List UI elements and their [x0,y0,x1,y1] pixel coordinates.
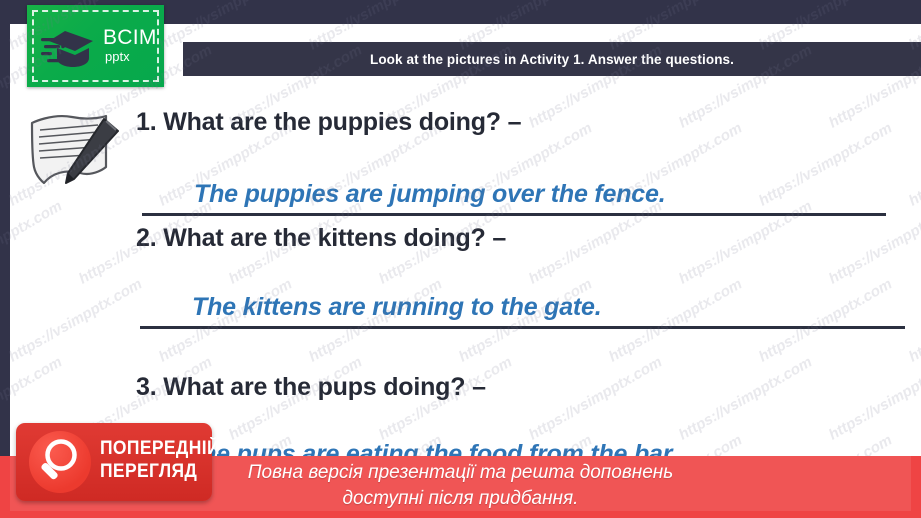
question-1: 1. What are the puppies doing? – [136,108,521,137]
preview-badge-line-1: ПОПЕРЕДНІЙ [100,437,220,460]
notepad-pen-icon [22,101,128,209]
answer-rule-1 [142,213,886,216]
preview-badge[interactable]: ПОПЕРЕДНІЙ ПЕРЕГЛЯД [16,423,212,501]
preview-badge-line-2: ПЕРЕГЛЯД [100,460,220,483]
instruction-text: Look at the pictures in Activity 1. Answ… [370,52,734,67]
question-3: 3. What are the pups doing? – [136,373,486,402]
logo-subtitle: pptx [105,50,130,63]
answer-1: The puppies are jumping over the fence. [194,180,665,209]
logo-title: BCIM [103,27,157,48]
preview-badge-label: ПОПЕРЕДНІЙ ПЕРЕГЛЯД [100,437,220,483]
question-2: 2. What are the kittens doing? – [136,224,506,253]
graduation-cap-icon [41,27,99,71]
instruction-banner: Look at the pictures in Activity 1. Answ… [183,42,921,76]
slide-left-rail [0,0,10,518]
site-logo[interactable]: BCIM pptx [27,5,164,87]
magnifier-icon [29,431,91,493]
slide-canvas: Look at the pictures in Activity 1. Answ… [0,0,921,518]
answer-2: The kittens are running to the gate. [192,293,602,322]
answer-rule-2 [140,326,905,329]
